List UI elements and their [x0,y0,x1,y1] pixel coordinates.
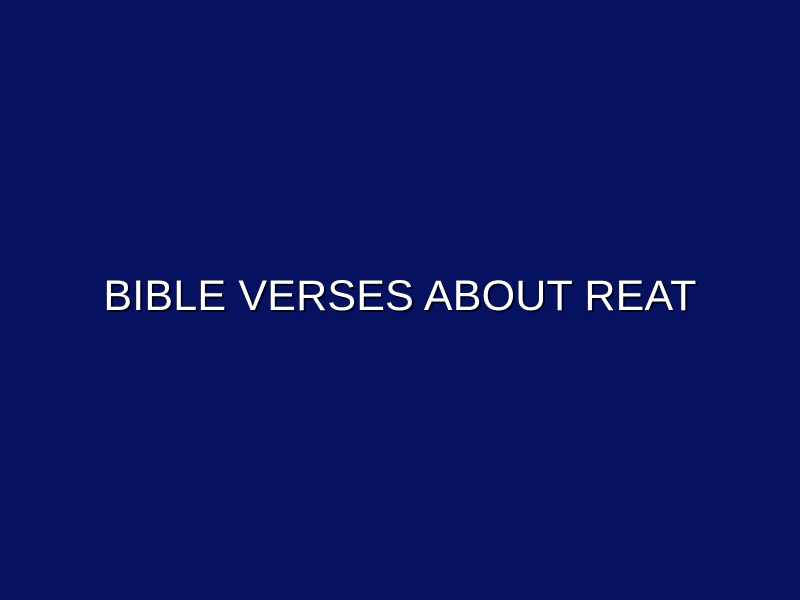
title-block: BIBLE VERSES ABOUT REAT [0,0,800,600]
slide-title: BIBLE VERSES ABOUT REAT [103,274,696,319]
slide-canvas: BIBLE VERSES ABOUT REAT [0,0,800,600]
